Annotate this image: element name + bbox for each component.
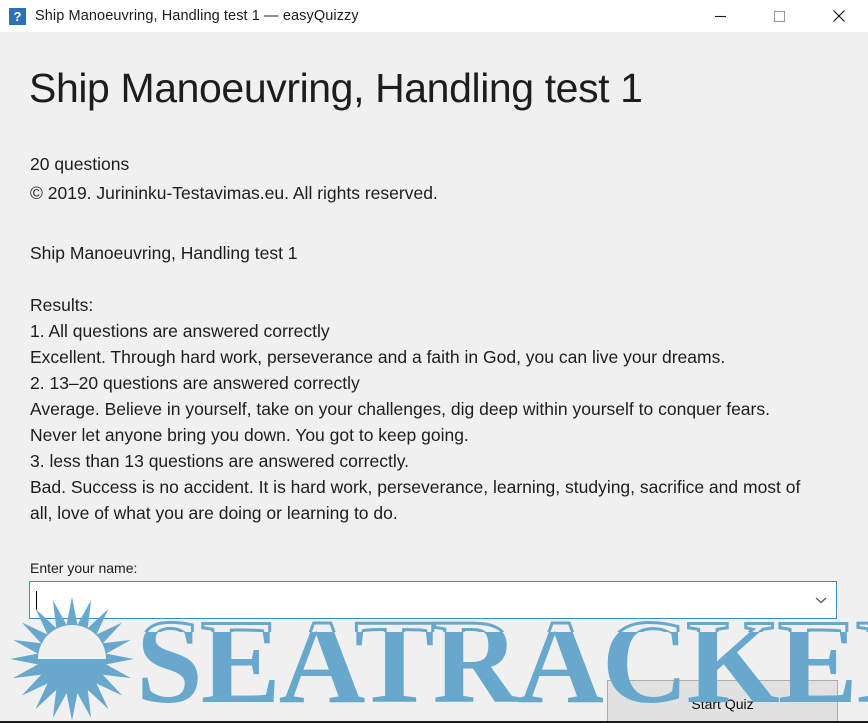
- title-bar: ? Ship Manoeuvring, Handling test 1 — ea…: [0, 0, 868, 32]
- content-area: Ship Manoeuvring, Handling test 1 20 que…: [0, 32, 868, 723]
- minimize-icon[interactable]: [691, 0, 750, 32]
- close-icon[interactable]: [809, 0, 868, 32]
- copyright-line: © 2019. Jurininku-Testavimas.eu. All rig…: [30, 179, 438, 208]
- result-line: 1. All questions are answered correctly: [30, 318, 820, 344]
- quiz-meta: 20 questions © 2019. Jurininku-Testavima…: [30, 150, 438, 207]
- window-controls: [691, 0, 868, 32]
- name-field-label: Enter your name:: [30, 560, 137, 576]
- chevron-down-icon[interactable]: [806, 582, 836, 618]
- result-line: 2. 13–20 questions are answered correctl…: [30, 370, 820, 396]
- result-line: Excellent. Through hard work, perseveran…: [30, 344, 820, 370]
- app-window: ? Ship Manoeuvring, Handling test 1 — ea…: [0, 0, 868, 723]
- results-heading: Results:: [30, 292, 820, 318]
- quiz-description: Ship Manoeuvring, Handling test 1 Result…: [30, 240, 820, 526]
- start-quiz-button[interactable]: Start Quiz: [607, 680, 838, 723]
- text-caret: [36, 591, 37, 610]
- maximize-icon[interactable]: [750, 0, 809, 32]
- result-line: 3. less than 13 questions are answered c…: [30, 448, 820, 474]
- page-title: Ship Manoeuvring, Handling test 1: [29, 64, 643, 112]
- window-title: Ship Manoeuvring, Handling test 1 — easy…: [35, 8, 359, 24]
- question-mark-app-icon: ?: [9, 8, 26, 25]
- name-combobox[interactable]: [29, 581, 837, 619]
- result-line: Bad. Success is no accident. It is hard …: [30, 474, 820, 526]
- test-name-line: Ship Manoeuvring, Handling test 1: [30, 240, 820, 266]
- result-line: Average. Believe in yourself, take on yo…: [30, 396, 820, 448]
- spacer: [30, 266, 820, 292]
- question-count: 20 questions: [30, 150, 438, 179]
